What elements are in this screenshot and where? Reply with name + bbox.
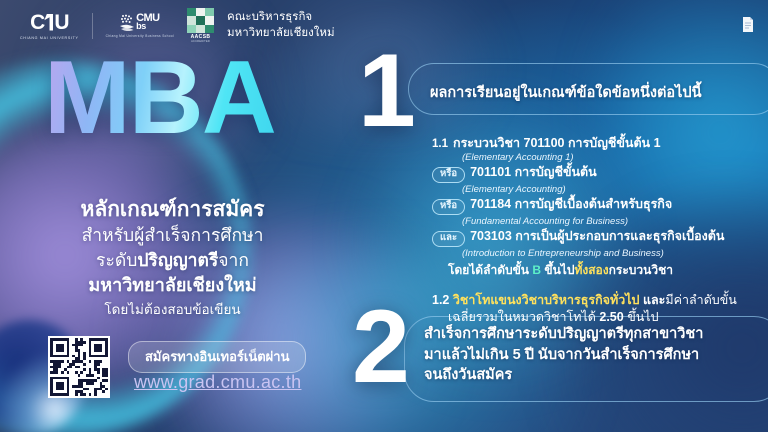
criteria-item-1-1-index: 1.1	[432, 138, 448, 151]
cmubs-dots-icon	[120, 14, 134, 31]
criteria-alt-2: หรือ 701184 การบัญชีเบื้องต้นสำหรับธุรกิ…	[432, 197, 762, 215]
section-1-number: 1	[358, 50, 412, 133]
criteria-grade-note-highlight: ทั้งสอง	[574, 263, 608, 277]
aacsb-sublabel: ACCREDITED	[191, 40, 210, 43]
criteria-alt-1-english: (Elementary Accounting)	[462, 183, 762, 197]
poster-canvas: CU CHIANG MAI UNIVERSITY	[0, 0, 768, 432]
criteria-item-1-2-tail: มีค่าลำดับขั้น	[665, 293, 736, 307]
section-2-number: 2	[352, 306, 406, 389]
application-website-link[interactable]: www.grad.cmu.ac.th	[134, 372, 301, 393]
cmubs-subtitle: Chiang Mai University Business School	[106, 34, 174, 38]
hero-line-2-bold: ปริญญาตรี	[137, 250, 218, 270]
criteria-grade-note-pre: โดยได้ลำดับขั้น	[448, 263, 529, 277]
criteria-and-pill: และ	[432, 231, 465, 247]
criteria-and-item: และ 703103 การเป็นผู้ประกอบการและธุรกิจเ…	[432, 229, 762, 247]
criteria-alt-1-text: 701101 การบัญชีขั้นต้น	[470, 165, 597, 179]
hero-line-1: สำหรับผู้สำเร็จการศึกษา	[0, 223, 345, 248]
criteria-item-1-2-index: 1.2	[432, 293, 449, 307]
cmubs-logo-row: CMU bs	[120, 14, 160, 31]
criteria-item-1-2-line-2-pre: เฉลี่ยรวมในหมวดวิชาโทได้	[448, 310, 596, 324]
criteria-and-text: 703103 การเป็นผู้ประกอบการและธุรกิจเบื้อ…	[470, 229, 724, 243]
hero-heading: หลักเกณฑ์การสมัคร	[0, 196, 345, 223]
criteria-item-1-1-text: กระบวนวิชา 701100 การบัญชีขั้นต้น 1	[453, 136, 661, 150]
cmu-logo-subtitle: CHIANG MAI UNIVERSITY	[20, 36, 79, 40]
qr-code-image	[48, 336, 110, 398]
cmu-logo-wordmark: CU	[30, 12, 68, 33]
hero-line-3: มหาวิทยาลัยเชียงใหม่	[0, 273, 345, 298]
criteria-alt-2-text: 701184 การบัญชีเบื้องต้นสำหรับธุรกิจ	[470, 197, 672, 211]
criteria-alt-2-english: (Fundamental Accounting for Business)	[462, 215, 762, 229]
faculty-name-line-2: มหาวิทยาลัยเชียงใหม่	[227, 26, 335, 41]
criteria-grade-value: B	[532, 263, 541, 277]
cmu-logo: CU CHIANG MAI UNIVERSITY	[20, 12, 79, 40]
apply-online-label: สมัครทางอินเทอร์เน็ตผ่าน	[128, 341, 306, 373]
section-2-body: สำเร็จการศึกษาระดับปริญญาตรีทุกสาขาวิชา …	[424, 324, 703, 386]
hero-line-2: ระดับปริญญาตรีจาก	[0, 248, 345, 273]
cmubs-line-2: bs	[136, 23, 160, 31]
qr-code[interactable]	[48, 336, 110, 398]
cmubs-wordmark: CMU bs	[136, 14, 160, 31]
criteria-item-1-2-and: และ	[643, 293, 665, 307]
criteria-grade-note-mid: ขึ้นไป	[544, 263, 574, 277]
criteria-grade-note: โดยได้ลำดับขั้น B ขึ้นไปทั้งสองกระบวนวิช…	[448, 261, 762, 279]
qr-code-modules	[50, 338, 108, 396]
aacsb-logo: AACSB ACCREDITED	[187, 8, 214, 43]
criteria-grade-note-tail: กระบวนวิชา	[609, 263, 673, 277]
criteria-alt-1: หรือ 701101 การบัญชีขั้นต้น	[432, 165, 762, 183]
criteria-item-1-2-line-2-tail: ขึ้นไป	[627, 310, 658, 324]
criteria-item-1-2-gpa: 2.50	[599, 310, 623, 324]
hero-line-2-plain: ระดับ	[96, 250, 137, 270]
logo-divider	[92, 13, 93, 39]
criteria-item-1-2-highlight: วิชาโทแขนงวิชาบริหารธุรกิจทั่วไป	[453, 293, 640, 307]
criteria-item-1-1-english: (Elementary Accounting 1)	[462, 151, 762, 165]
cmubs-mark-icon	[120, 14, 134, 31]
cmu-logo-one-glyph	[44, 14, 53, 31]
criteria-item-1-2: 1.2 วิชาโทแขนงวิชาบริหารธุรกิจทั่วไป และ…	[432, 292, 762, 326]
section-2-line-3: จนถึงวันสมัคร	[424, 365, 703, 386]
hero-line-2-tail: จาก	[218, 250, 249, 270]
criteria-item-1-1: 1.1 กระบวนวิชา 701100 การบัญชีขั้นต้น 1	[432, 136, 762, 151]
section-1-title: ผลการเรียนอยู่ในเกณฑ์ข้อใดข้อหนึ่งต่อไปน…	[430, 81, 702, 104]
section-2-line-1: สำเร็จการศึกษาระดับปริญญาตรีทุกสาขาวิชา	[424, 324, 703, 345]
page-title: MBA	[44, 46, 275, 150]
hero-line-4: โดยไม่ต้องสอบข้อเขียน	[0, 300, 345, 320]
aacsb-mark-icon	[187, 8, 214, 33]
criteria-alt-2-pill: หรือ	[432, 199, 465, 215]
section-2-line-2: มาแล้วไม่เกิน 5 ปี นับจากวันสำเร็จการศึก…	[424, 345, 703, 366]
criteria-and-english: (Introduction to Entrepreneurship and Bu…	[462, 247, 762, 261]
cmubs-logo: CMU bs Chiang Mai University Business Sc…	[106, 14, 174, 38]
document-icon	[742, 16, 754, 33]
header-bar: CU CHIANG MAI UNIVERSITY	[0, 0, 768, 52]
criteria-list: 1.1 กระบวนวิชา 701100 การบัญชีขั้นต้น 1 …	[432, 136, 762, 326]
hero-text-block: หลักเกณฑ์การสมัคร สำหรับผู้สำเร็จการศึกษ…	[0, 196, 345, 320]
logo-group: CU CHIANG MAI UNIVERSITY	[20, 8, 335, 43]
faculty-name: คณะบริหารธุรกิจ มหาวิทยาลัยเชียงใหม่	[227, 10, 335, 40]
criteria-alt-1-pill: หรือ	[432, 167, 465, 183]
faculty-name-line-1: คณะบริหารธุรกิจ	[227, 10, 335, 25]
